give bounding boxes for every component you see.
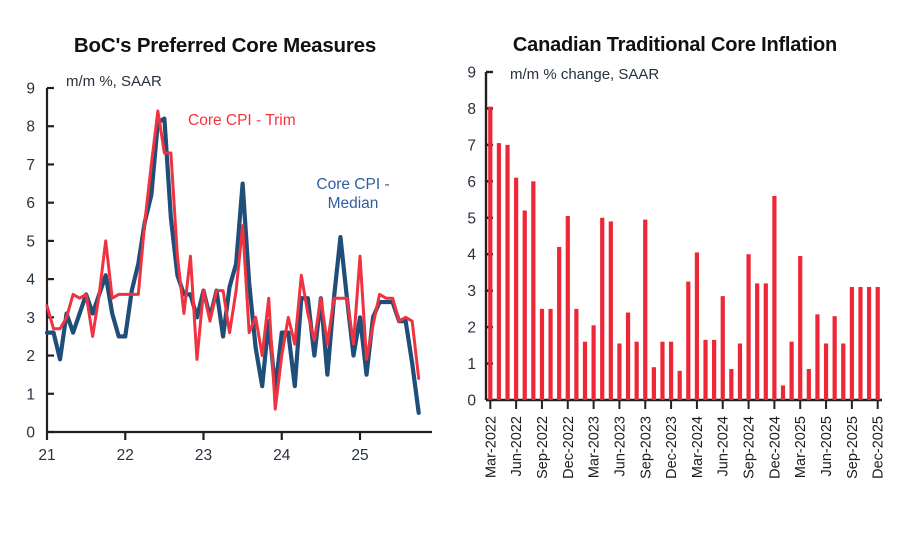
bar (626, 313, 630, 400)
y-tick-label: 5 (26, 233, 35, 250)
bar (669, 342, 673, 400)
bar (746, 254, 750, 400)
y-tick-label: 1 (467, 356, 476, 373)
bar (574, 309, 578, 400)
bar (652, 367, 656, 400)
y-tick-label: 1 (26, 386, 35, 403)
bar (858, 287, 862, 400)
x-tick-label: Mar-2022 (483, 416, 499, 478)
y-tick-label: 4 (467, 247, 476, 264)
x-tick-label: Jun-2024 (716, 416, 732, 476)
x-tick-label: Jun-2023 (612, 416, 628, 476)
y-tick-label: 3 (467, 283, 476, 300)
x-tick-label: Dec-2022 (561, 416, 577, 479)
x-tick-label: 24 (273, 447, 291, 464)
figure-root: BoC's Preferred Core Measures m/m %, SAA… (0, 0, 900, 537)
bar (660, 342, 664, 400)
y-tick-label: 8 (26, 119, 35, 136)
bar (686, 282, 690, 400)
bar (755, 283, 759, 400)
x-tick-label: Jun-2025 (819, 416, 835, 476)
series-line-core-cpi-trim (47, 111, 419, 409)
bar (592, 325, 596, 400)
bar (514, 178, 518, 400)
bar (729, 369, 733, 400)
bar (488, 107, 492, 400)
y-tick-label: 6 (26, 195, 35, 212)
bar (764, 283, 768, 400)
x-tick-label: Mar-2023 (587, 416, 603, 478)
x-tick-label: Dec-2023 (664, 416, 680, 479)
bar-chart-svg: 0123456789Mar-2022Jun-2022Sep-2022Dec-20… (450, 0, 900, 537)
x-tick-label: 25 (351, 447, 368, 464)
x-tick-label: Sep-2022 (535, 416, 551, 479)
y-tick-label: 2 (467, 320, 476, 337)
x-tick-label: Mar-2025 (793, 416, 809, 478)
bar (867, 287, 871, 400)
bar (635, 342, 639, 400)
bar (781, 385, 785, 400)
bar (643, 220, 647, 400)
bar (557, 247, 561, 400)
bar (807, 369, 811, 400)
x-tick-label: Sep-2023 (638, 416, 654, 479)
bar (523, 210, 527, 400)
y-tick-label: 0 (467, 393, 476, 410)
chart-panel-boc-preferred-core: BoC's Preferred Core Measures m/m %, SAA… (0, 0, 450, 537)
y-tick-label: 6 (467, 174, 476, 191)
y-tick-label: 2 (26, 348, 35, 365)
bar (798, 256, 802, 400)
x-tick-label: Dec-2024 (767, 416, 783, 479)
bar (712, 340, 716, 400)
bar (609, 221, 613, 400)
bar (531, 181, 535, 400)
x-tick-label: Jun-2022 (509, 416, 525, 476)
line-chart-svg: 01234567892122232425 (0, 0, 450, 537)
x-tick-label: Dec-2025 (871, 416, 887, 479)
y-tick-label: 7 (467, 137, 476, 154)
bar (583, 342, 587, 400)
x-tick-label: Sep-2025 (845, 416, 861, 479)
bar (695, 252, 699, 400)
bar (772, 196, 776, 400)
bar (678, 371, 682, 400)
bar (566, 216, 570, 400)
bar (824, 344, 828, 400)
bar (790, 342, 794, 400)
bar (703, 340, 707, 400)
bar (505, 145, 509, 400)
x-tick-label: 22 (117, 447, 134, 464)
x-tick-label: 23 (195, 447, 212, 464)
y-tick-label: 4 (26, 272, 35, 289)
bar (540, 309, 544, 400)
y-tick-label: 8 (467, 101, 476, 118)
x-tick-label: Mar-2024 (690, 416, 706, 478)
x-tick-label: Sep-2024 (742, 416, 758, 479)
bar (600, 218, 604, 400)
bar (548, 309, 552, 400)
bar (617, 344, 621, 400)
bar (738, 344, 742, 400)
bar (721, 296, 725, 400)
y-tick-label: 7 (26, 157, 35, 174)
bar (850, 287, 854, 400)
y-tick-label: 9 (26, 81, 35, 98)
y-tick-label: 0 (26, 425, 35, 442)
x-tick-label: 21 (38, 447, 55, 464)
y-tick-label: 9 (467, 65, 476, 82)
bar (815, 314, 819, 400)
bar (833, 316, 837, 400)
bar (841, 344, 845, 400)
y-tick-label: 5 (467, 210, 476, 227)
y-tick-label: 3 (26, 310, 35, 327)
chart-panel-canadian-traditional-core: Canadian Traditional Core Inflation m/m … (450, 0, 900, 537)
bar (876, 287, 880, 400)
bar (497, 143, 501, 400)
